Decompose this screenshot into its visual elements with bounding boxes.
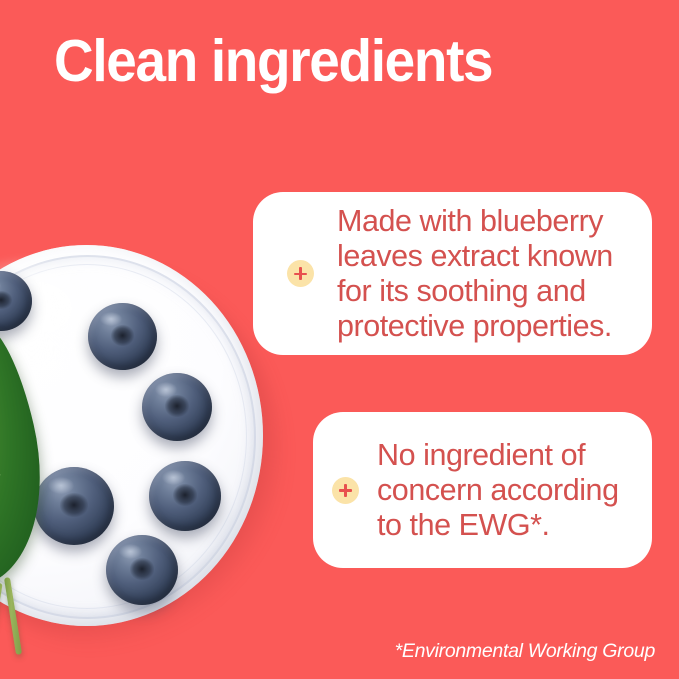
plus-icon-vertical-bar (299, 267, 302, 280)
plus-icon (287, 260, 314, 287)
page-title: Clean ingredients (54, 30, 492, 93)
leaf-vein (0, 468, 1, 475)
poster-canvas: Clean ingredients (0, 0, 679, 679)
plus-icon-vertical-bar (344, 484, 347, 497)
blueberry (149, 461, 221, 531)
footnote: *Environmental Working Group (395, 640, 655, 663)
blueberry (34, 467, 114, 545)
blueberry (142, 373, 212, 441)
blueberry (106, 535, 178, 605)
feature-card[interactable]: Made with blueberry leaves extract known… (253, 192, 652, 355)
plus-icon (332, 477, 359, 504)
blueberry (88, 303, 157, 370)
feature-card[interactable]: No ingredient of concern according to th… (313, 412, 652, 568)
feature-card-text: No ingredient of concern according to th… (377, 438, 619, 543)
feature-card-text: Made with blueberry leaves extract known… (337, 204, 613, 344)
blueberry-dish-photo (0, 245, 270, 645)
